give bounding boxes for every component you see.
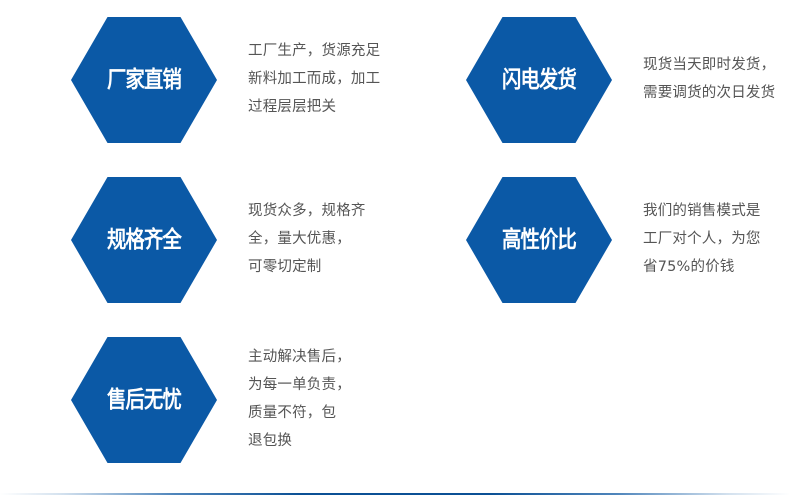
feature-title: 厂家直销: [107, 69, 181, 92]
feature-grid: 厂家直销 工厂生产，货源充足 新料加工而成，加工 过程层层把关 闪电发货 现货当…: [0, 0, 790, 480]
feature-title: 售后无忧: [107, 389, 181, 412]
hexagon-badge: 闪电发货: [453, 6, 625, 154]
feature-title: 闪电发货: [502, 69, 576, 92]
hexagon-badge: 规格齐全: [58, 166, 230, 314]
hexagon-badge: 厂家直销: [58, 6, 230, 154]
feature-description: 主动解决售后， 为每一单负责， 质量不符，包 退包换: [248, 344, 395, 455]
feature-card-factory-direct: 厂家直销 工厂生产，货源充足 新料加工而成，加工 过程层层把关: [0, 0, 395, 160]
feature-card-full-specs: 规格齐全 现货众多，规格齐 全，量大优惠， 可零切定制: [0, 160, 395, 320]
feature-title: 规格齐全: [107, 229, 181, 252]
feature-card-fast-shipping: 闪电发货 现货当天即时发货， 需要调货的次日发货: [395, 0, 790, 160]
bottom-divider: [0, 493, 790, 495]
feature-title: 高性价比: [502, 229, 576, 252]
feature-card-cost-performance: 高性价比 我们的销售模式是 工厂对个人，为您 省75%的价钱: [395, 160, 790, 320]
hexagon-badge: 高性价比: [453, 166, 625, 314]
hexagon-badge: 售后无忧: [58, 326, 230, 474]
feature-description: 现货当天即时发货， 需要调货的次日发货: [643, 52, 790, 108]
feature-description: 我们的销售模式是 工厂对个人，为您 省75%的价钱: [643, 198, 790, 281]
feature-highlights-banner: 厂家直销 工厂生产，货源充足 新料加工而成，加工 过程层层把关 闪电发货 现货当…: [0, 0, 790, 501]
feature-description: 现货众多，规格齐 全，量大优惠， 可零切定制: [248, 198, 395, 281]
feature-description: 工厂生产，货源充足 新料加工而成，加工 过程层层把关: [248, 38, 395, 121]
feature-card-after-sales: 售后无忧 主动解决售后， 为每一单负责， 质量不符，包 退包换: [0, 320, 395, 480]
